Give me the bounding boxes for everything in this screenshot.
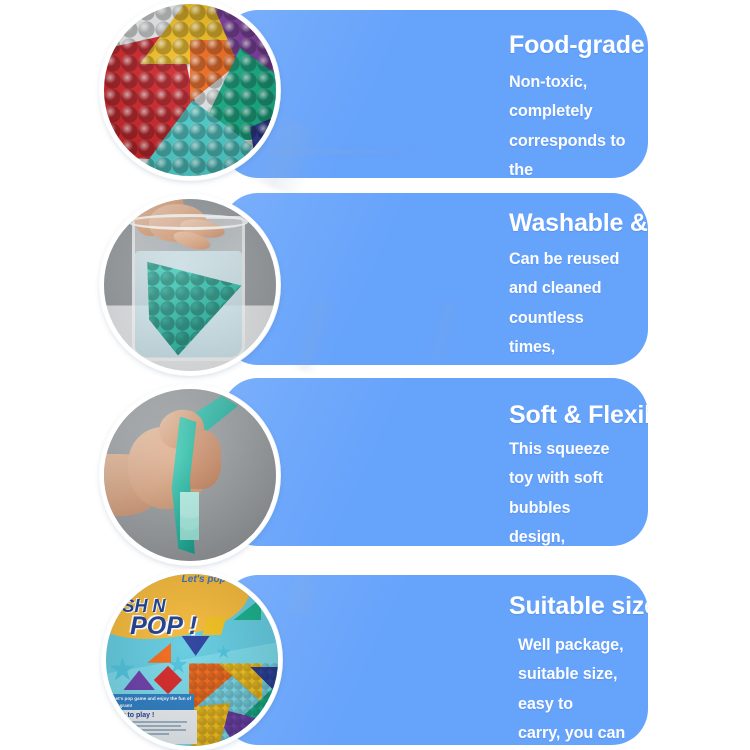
feature-card-text-block: Washable & Reusable Can be reused and cl… [509, 209, 630, 365]
feature-card-suitable-size-easy-to-carry: Suitable size, easy to carry Well packag… [222, 575, 648, 745]
photo-vignette [104, 389, 276, 561]
feature-card-food-grade-silicone-material: Food-grade silicone material Non-toxic, … [222, 10, 648, 178]
washing-popit-in-beaker-photo [100, 195, 280, 375]
feature-card-text-block: Soft & Flexible This squeeze toy with so… [509, 401, 630, 546]
photo-artwork [104, 199, 276, 371]
feature-body-line: Well package, suitable size, easy to [518, 631, 630, 720]
feature-title: Suitable size, easy to carry [509, 592, 630, 622]
feature-body-line: Can be reused and cleaned countless time… [509, 245, 630, 363]
infographic-canvas: Food-grade silicone material Non-toxic, … [0, 0, 750, 750]
photo-artwork [104, 389, 276, 561]
feature-title: Soft & Flexible [509, 401, 630, 431]
feature-body-line: Recommended to wash the push pop fidget [509, 363, 630, 366]
feature-body: Well package, suitable size, easy to car… [509, 631, 630, 746]
feature-body: This squeeze toy with soft bubbles desig… [509, 435, 630, 547]
feature-card-soft-and-flexible: Soft & Flexible This squeeze toy with so… [222, 378, 648, 546]
rainbow-tangram-popit-photo [100, 0, 280, 180]
feature-title: Food-grade silicone material [509, 31, 630, 61]
feature-body: Can be reused and cleaned countless time… [509, 245, 630, 366]
feature-title: Washable & Reusable [509, 209, 630, 239]
hand-squeezing-popit-photo [100, 385, 280, 565]
photo-artwork [104, 4, 276, 176]
feature-body-line: Non-toxic, completely corresponds to the [509, 68, 630, 179]
photo-vignette [104, 199, 276, 371]
feature-card-text-block: Suitable size, easy to carry Well packag… [509, 592, 630, 745]
feature-body: Non-toxic, completely corresponds to the… [509, 68, 630, 179]
photo-artwork: Let's pop USH N POP ! [106, 574, 278, 746]
feature-body-line: This squeeze toy with soft bubbles desig… [509, 435, 630, 547]
feature-card-text-block: Food-grade silicone material Non-toxic, … [509, 31, 630, 178]
feature-card-washable-and-reusable: Washable & Reusable Can be reused and cl… [222, 193, 648, 365]
feature-body-line: carry, you can play it in the car, plane… [518, 719, 630, 745]
product-package-photo: Let's pop USH N POP ! [102, 570, 282, 750]
photo-vignette [104, 4, 276, 176]
photo-vignette [106, 574, 278, 746]
